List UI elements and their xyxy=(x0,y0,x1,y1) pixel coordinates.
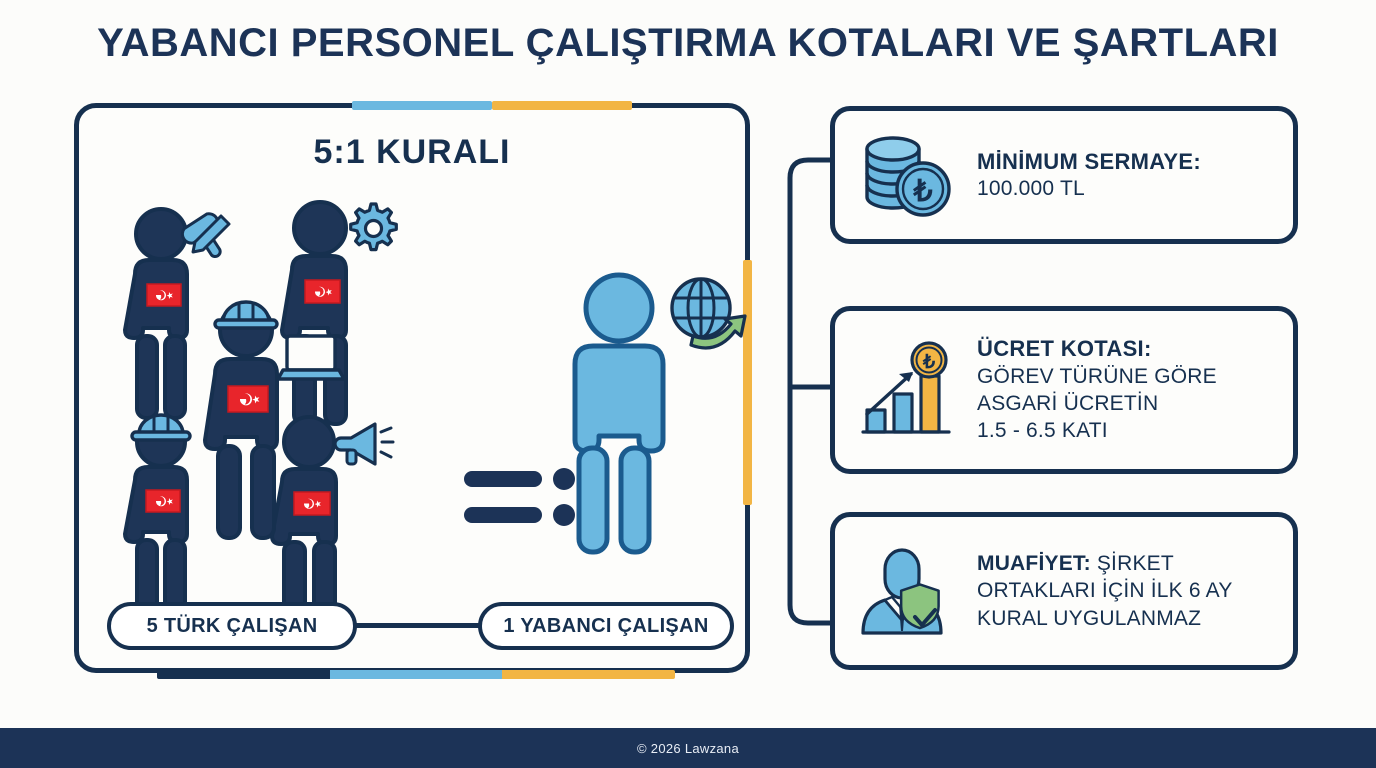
card-body-line: KURAL UYGULANMAZ xyxy=(977,605,1273,632)
page-title: YABANCI PERSONEL ÇALIŞTIRMA KOTALARI VE … xyxy=(0,22,1376,64)
card-text: MUAFİYET: ŞİRKET ORTAKLARI İÇİN İLK 6 AY… xyxy=(977,550,1273,632)
card-body-line-first: MUAFİYET: ŞİRKET xyxy=(977,550,1273,577)
accent-segment-amber xyxy=(502,670,674,679)
card-heading: ÜCRET KOTASI: xyxy=(977,335,1273,363)
label-foreign-worker: 1 YABANCI ÇALIŞAN xyxy=(478,602,734,650)
card-body-line: ASGARİ ÜCRETİN xyxy=(977,390,1273,417)
footer-copyright: © 2026 Lawzana xyxy=(0,728,1376,768)
svg-text:₺: ₺ xyxy=(922,352,935,373)
globe-arrow-icon xyxy=(672,279,745,348)
main-rule-panel: 5:1 KURALI xyxy=(74,103,750,673)
card-body: GÖREV TÜRÜNE GÖRE ASGARİ ÜCRETİN 1.5 - 6… xyxy=(977,363,1273,445)
card-heading: MİNİMUM SERMAYE: xyxy=(977,148,1273,176)
businessman-shield-check-icon xyxy=(855,543,959,639)
card-body: MUAFİYET: ŞİRKET ORTAKLARI İÇİN İLK 6 AY… xyxy=(977,550,1273,632)
bar-chart-growth-lira-icon: ₺ xyxy=(855,340,959,440)
wrench-screwdriver-icon xyxy=(179,209,229,257)
card-exemption: MUAFİYET: ŞİRKET ORTAKLARI İÇİN İLK 6 AY… xyxy=(830,512,1298,670)
rule-heading: 5:1 KURALI xyxy=(79,133,745,172)
laptop-icon xyxy=(278,336,344,379)
card-heading: MUAFİYET: xyxy=(977,552,1091,575)
card-text: MİNİMUM SERMAYE: 100.000 TL xyxy=(977,148,1273,203)
card-body-line: GÖREV TÜRÜNE GÖRE xyxy=(977,363,1273,390)
svg-text:₺: ₺ xyxy=(912,175,932,208)
coin-stack-lira-icon: ₺ xyxy=(855,129,959,221)
hardhat-icon xyxy=(215,302,277,328)
panel-accent-blue xyxy=(352,101,492,110)
pill-connector-line xyxy=(352,623,484,628)
card-value: 100.000 TL xyxy=(977,175,1273,202)
infographic-canvas: YABANCI PERSONEL ÇALIŞTIRMA KOTALARI VE … xyxy=(0,0,1376,768)
card-body-line: 1.5 - 6.5 KATI xyxy=(977,417,1273,444)
card-heading-suffix: ŞİRKET xyxy=(1091,552,1174,575)
foreign-worker-figure xyxy=(559,268,759,558)
gear-icon xyxy=(351,204,397,250)
card-wage-quota: ₺ ÜCRET KOTASI: GÖREV TÜRÜNE GÖRE ASGARİ… xyxy=(830,306,1298,474)
card-body-line: ORTAKLARI İÇİN İLK 6 AY xyxy=(977,577,1273,604)
turkish-worker-figure xyxy=(201,288,361,550)
panel-accent-amber xyxy=(492,101,632,110)
hardhat-icon xyxy=(132,415,190,440)
card-text: ÜCRET KOTASI: GÖREV TÜRÜNE GÖRE ASGARİ Ü… xyxy=(977,335,1273,444)
accent-segment-blue xyxy=(330,670,502,679)
label-turkish-workers: 5 TÜRK ÇALIŞAN xyxy=(107,602,357,650)
card-minimum-capital: ₺ MİNİMUM SERMAYE: 100.000 TL xyxy=(830,106,1298,244)
bottom-accent-bar xyxy=(157,670,675,679)
accent-segment-navy xyxy=(157,670,330,679)
